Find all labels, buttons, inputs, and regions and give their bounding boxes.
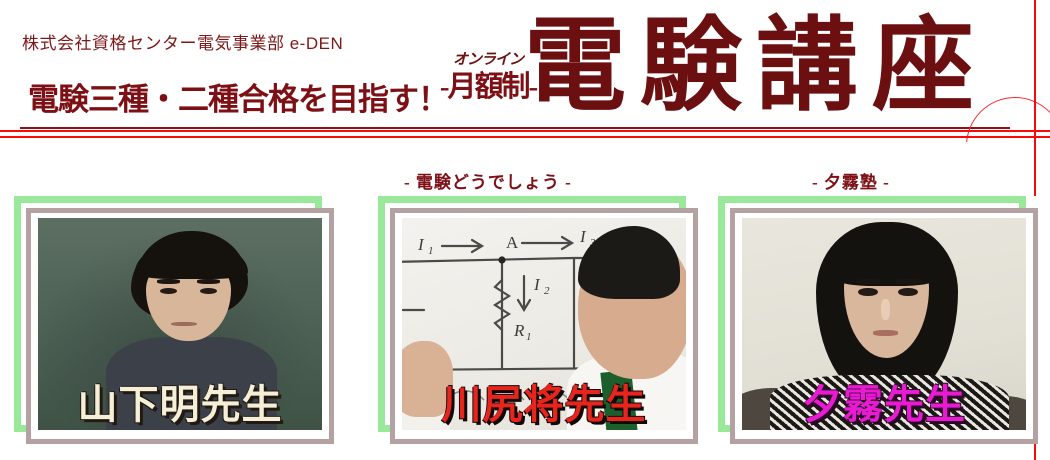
red-vertical-rule: [1034, 0, 1036, 196]
teacher-card-kawajiri[interactable]: I 1 I 3 I 2 A R 1 R 2: [378, 196, 698, 444]
svg-text:R: R: [513, 321, 525, 340]
teacher-name-label: 山下明先生: [38, 382, 322, 428]
divider-line-lower: [0, 136, 1050, 138]
svg-text:I: I: [579, 227, 587, 246]
teacher-name-label: 夕霧先生: [742, 382, 1026, 428]
card-label-3: - 夕霧塾 -: [812, 168, 890, 193]
divider-line-upper: [0, 130, 1050, 132]
company-name: 株式会社資格センター電気事業部 e-DEN: [22, 29, 343, 54]
teacher-photo-yamashita[interactable]: 山下明先生: [38, 218, 322, 430]
svg-text:I: I: [417, 235, 425, 254]
svg-text:A: A: [506, 233, 519, 252]
svg-text:2: 2: [544, 285, 550, 297]
svg-text:I: I: [533, 275, 541, 294]
page-title: 電験講座: [524, 6, 988, 130]
card-label-2: - 電験どうでしょう -: [404, 168, 572, 193]
teacher-name-label: 川尻将先生: [402, 382, 686, 428]
teacher-photo-yugiri[interactable]: 夕霧先生: [742, 218, 1026, 430]
teacher-card-yamashita[interactable]: 山下明先生: [14, 196, 334, 444]
svg-text:1: 1: [428, 245, 434, 257]
teacher-photo-kawajiri[interactable]: I 1 I 3 I 2 A R 1 R 2: [402, 218, 686, 430]
teacher-card-yugiri[interactable]: 夕霧先生: [718, 196, 1038, 444]
tagline: 電験三種・二種合格を目指す！: [28, 74, 448, 119]
banner-root: 株式会社資格センター電気事業部 e-DEN 電験三種・二種合格を目指す！ オンラ…: [0, 0, 1050, 460]
banner-header: 株式会社資格センター電気事業部 e-DEN 電験三種・二種合格を目指す！ オンラ…: [0, 0, 1050, 142]
svg-text:1: 1: [526, 331, 532, 343]
